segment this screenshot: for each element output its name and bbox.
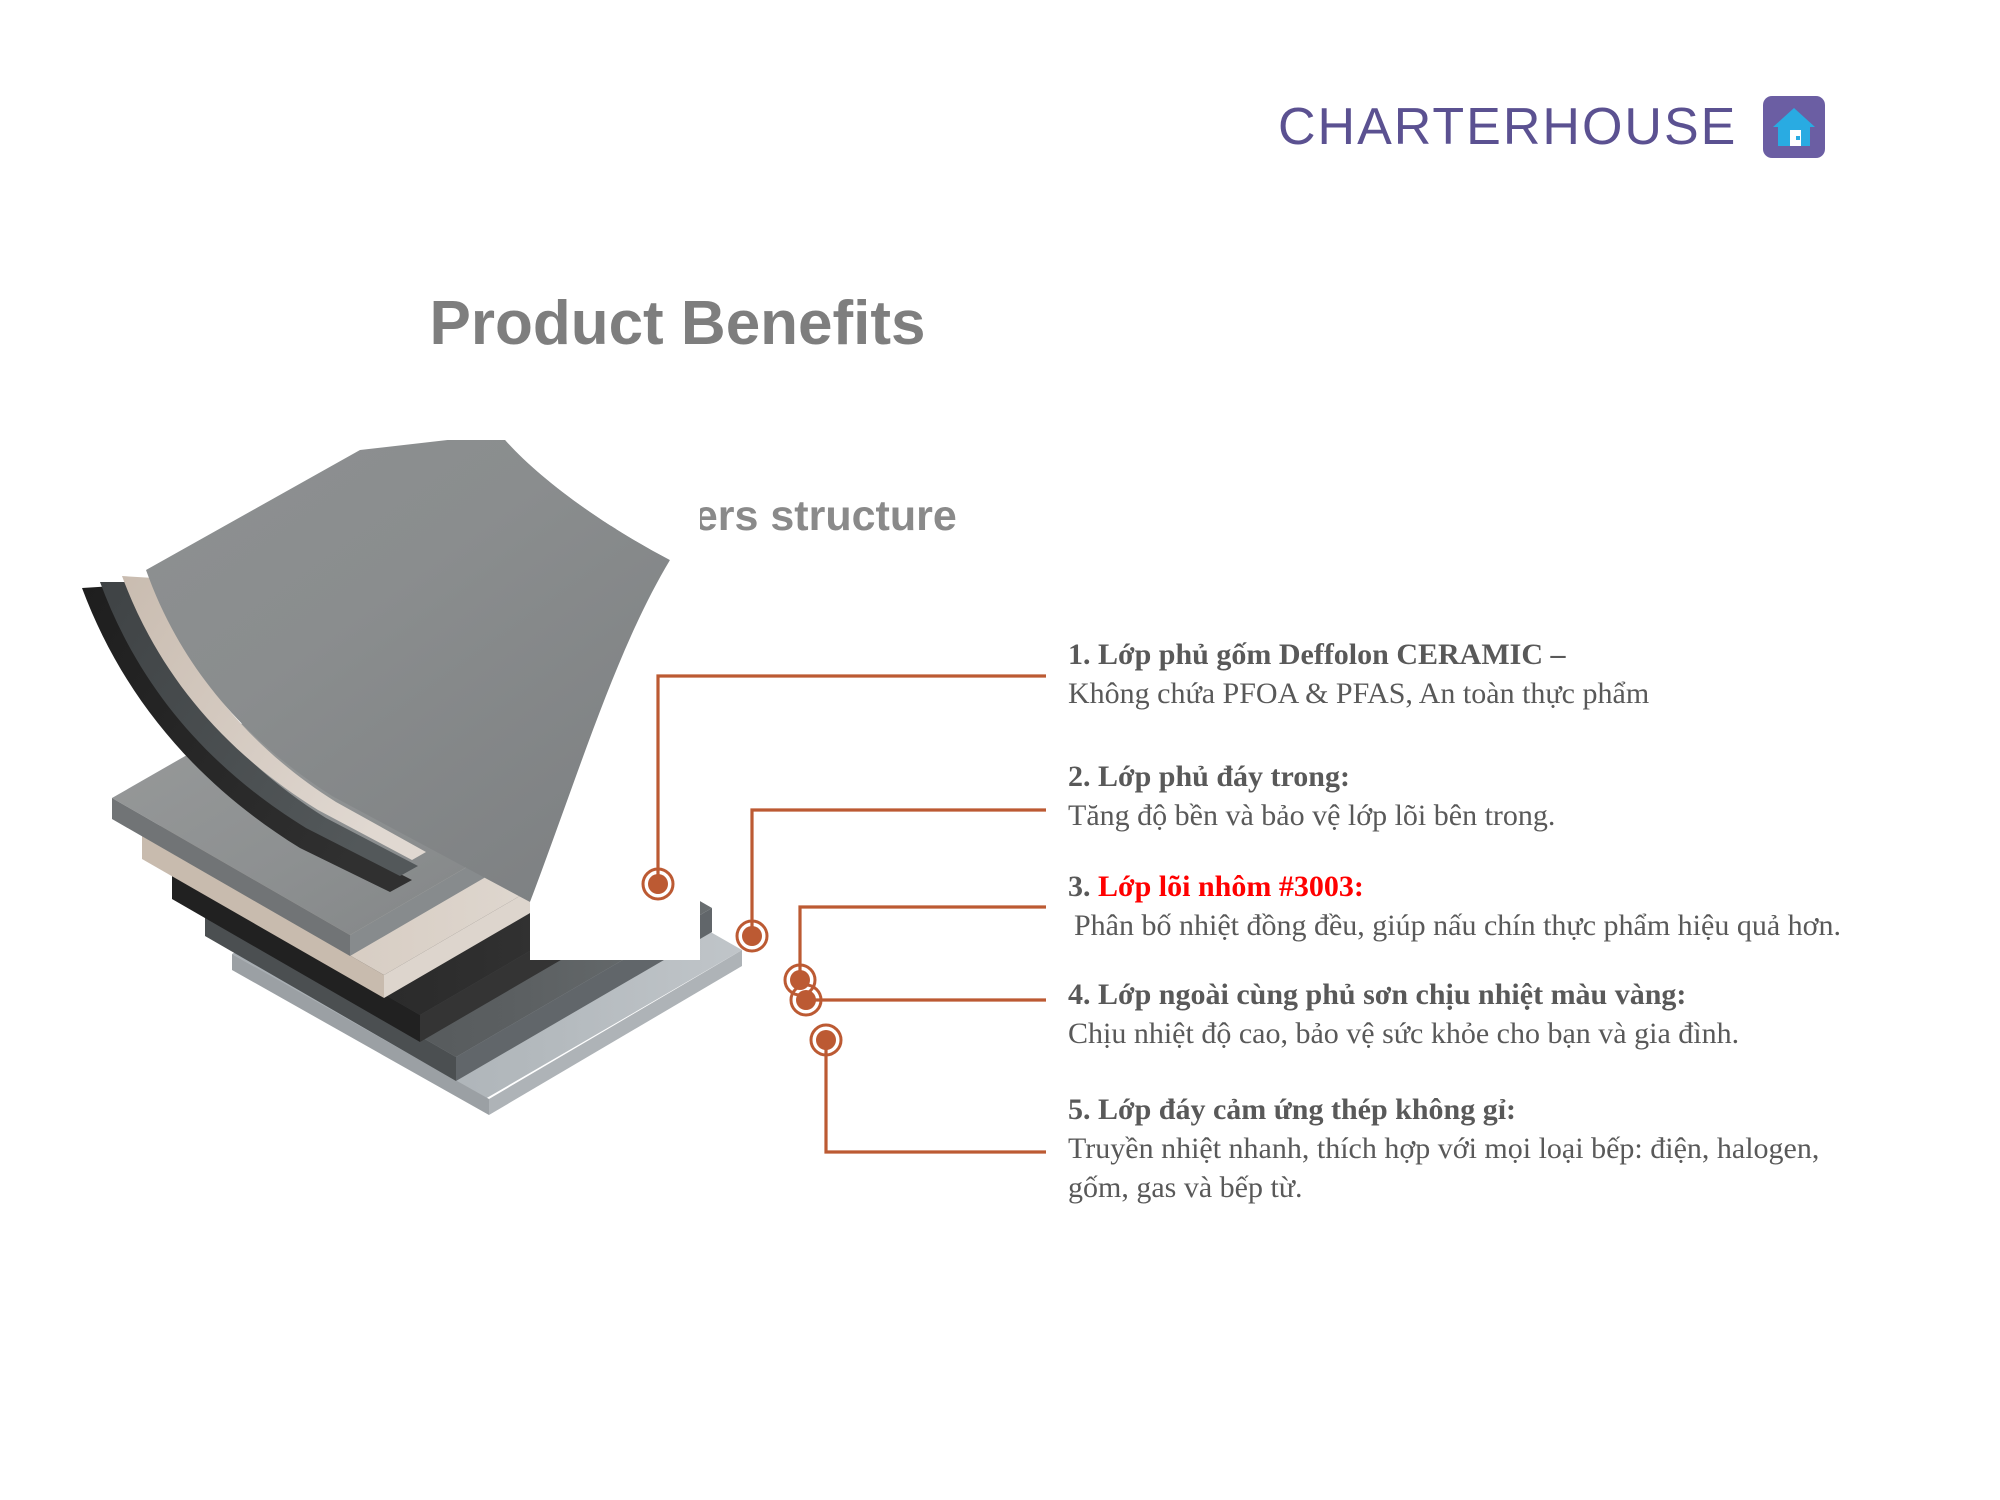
callout-number-5: 5. (1068, 1093, 1091, 1126)
callout-title-2: Lớp phủ đáy trong: (1098, 760, 1350, 793)
callout-body-1-line-1: Không chứa PFOA & PFAS, An toàn thực phẩ… (1068, 674, 1649, 713)
callout-item-5: 5. Lớp đáy cảm ứng thép không gỉ: Truyền… (1068, 1091, 1819, 1207)
callout-title-4: Lớp ngoài cùng phủ sơn chịu nhiệt màu và… (1098, 978, 1686, 1011)
callout-title-1: Lớp phủ gốm Deffolon CERAMIC – (1098, 638, 1566, 671)
callout-title-5: Lớp đáy cảm ứng thép không gỉ: (1098, 1093, 1516, 1126)
callout-heading-4: 4. Lớp ngoài cùng phủ sơn chịu nhiệt màu… (1068, 976, 1739, 1014)
callout-body-3-line-1: Phân bố nhiệt đồng đều, giúp nấu chín th… (1068, 906, 1841, 945)
callout-title-3: Lớp lõi nhôm #3003: (1098, 870, 1364, 903)
curved-sheet-group (60, 440, 700, 960)
callout-heading-1: 1. Lớp phủ gốm Deffolon CERAMIC – (1068, 636, 1649, 674)
callout-number-3: 3. (1068, 870, 1091, 903)
callout-body-5-line-1: Truyền nhiệt nhanh, thích hợp với mọi lo… (1068, 1129, 1819, 1168)
brand-logo: CHARTERHOUSE (1278, 96, 1825, 158)
callout-item-2: 2. Lớp phủ đáy trong: Tăng độ bền và bảo… (1068, 758, 1555, 835)
callout-item-3: 3. Lớp lõi nhôm #3003: Phân bố nhiệt đồn… (1068, 868, 1841, 945)
callout-heading-2: 2. Lớp phủ đáy trong: (1068, 758, 1555, 796)
page-title: Product Benefits (0, 288, 1355, 359)
callout-body-4-line-1: Chịu nhiệt độ cao, bảo vệ sức khỏe cho b… (1068, 1014, 1739, 1053)
callout-heading-3: 3. Lớp lõi nhôm #3003: (1068, 868, 1841, 906)
callout-body-5-line-2: gốm, gas và bếp từ. (1068, 1168, 1819, 1207)
callout-number-2: 2. (1068, 760, 1091, 793)
callout-body-2-line-1: Tăng độ bền và bảo vệ lớp lõi bên trong. (1068, 796, 1555, 835)
brand-wordmark: CHARTERHOUSE (1278, 101, 1737, 153)
callout-item-4: 4. Lớp ngoài cùng phủ sơn chịu nhiệt màu… (1068, 976, 1739, 1053)
callout-heading-5: 5. Lớp đáy cảm ứng thép không gỉ: (1068, 1091, 1819, 1129)
callout-number-4: 4. (1068, 978, 1091, 1011)
house-icon (1763, 96, 1825, 158)
callout-number-1: 1. (1068, 638, 1091, 671)
callout-item-1: 1. Lớp phủ gốm Deffolon CERAMIC – Không … (1068, 636, 1649, 713)
